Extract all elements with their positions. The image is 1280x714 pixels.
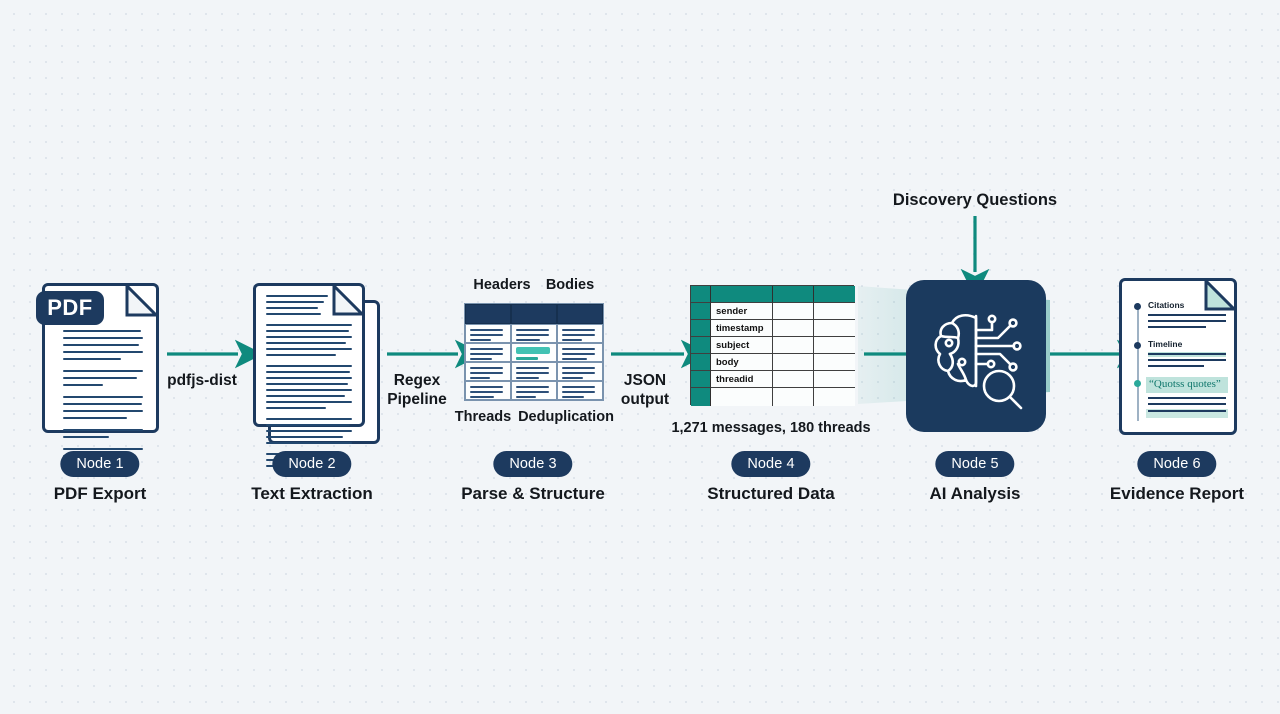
parse-label-bodies: Bodies: [546, 277, 594, 293]
parse-label-deduplication: Deduplication: [518, 409, 614, 425]
report-document-icon: Citations Timeline “Quotss quotes”: [1119, 278, 1237, 435]
node-6-caption: Evidence Report: [1110, 484, 1244, 504]
report-section-citations: Citations: [1148, 300, 1184, 310]
node-3-caption: Parse & Structure: [461, 484, 605, 504]
spreadsheet-icon: sender timestamp subject body threadid: [690, 285, 854, 405]
edge-label-line-2: Pipeline: [369, 391, 465, 410]
node-4-badge: Node 4: [731, 451, 810, 477]
report-section-timeline: Timeline: [1148, 339, 1182, 349]
parse-label-threads: Threads: [455, 409, 511, 425]
brain-circuit-magnifier-icon: [906, 280, 1046, 432]
edge-label-regex-pipeline: Regex Pipeline: [369, 372, 465, 410]
parse-table-icon: [464, 303, 604, 401]
ai-node-box: [906, 280, 1046, 432]
parse-label-headers: Headers: [473, 277, 530, 293]
sheet-field-threadid: threadid: [711, 371, 773, 388]
node-1-badge: Node 1: [60, 451, 139, 477]
report-quote: “Quotss quotes”: [1149, 378, 1221, 390]
node-2-caption: Text Extraction: [251, 484, 373, 504]
node-4-caption: Structured Data: [707, 484, 835, 504]
pdf-badge: PDF: [36, 291, 104, 325]
edge-label-line-1: Regex: [369, 372, 465, 391]
sheet-field-subject: subject: [711, 337, 773, 354]
node-6-badge: Node 6: [1137, 451, 1216, 477]
node-1-caption: PDF Export: [54, 484, 147, 504]
discovery-questions-label: Discovery Questions: [893, 190, 1057, 210]
document-front-page: [253, 283, 365, 427]
node-2-badge: Node 2: [272, 451, 351, 477]
node-5-badge: Node 5: [935, 451, 1014, 477]
edge-arrows-layer: [0, 0, 1280, 714]
sheet-field-sender: sender: [711, 303, 773, 320]
node-5-caption: AI Analysis: [929, 484, 1020, 504]
sheet-field-timestamp: timestamp: [711, 320, 773, 337]
pipeline-diagram: Discovery Questions PDF No: [0, 0, 1280, 714]
structured-data-stats: 1,271 messages, 180 threads: [671, 420, 870, 436]
node-3-badge: Node 3: [493, 451, 572, 477]
edge-label-line-1: JSON: [597, 372, 693, 391]
edge-label-json-output: JSON output: [597, 372, 693, 410]
sheet-field-body: body: [711, 354, 773, 371]
edge-label-line-2: output: [597, 391, 693, 410]
edge-label-pdfjs-dist: pdfjs-dist: [167, 372, 237, 391]
